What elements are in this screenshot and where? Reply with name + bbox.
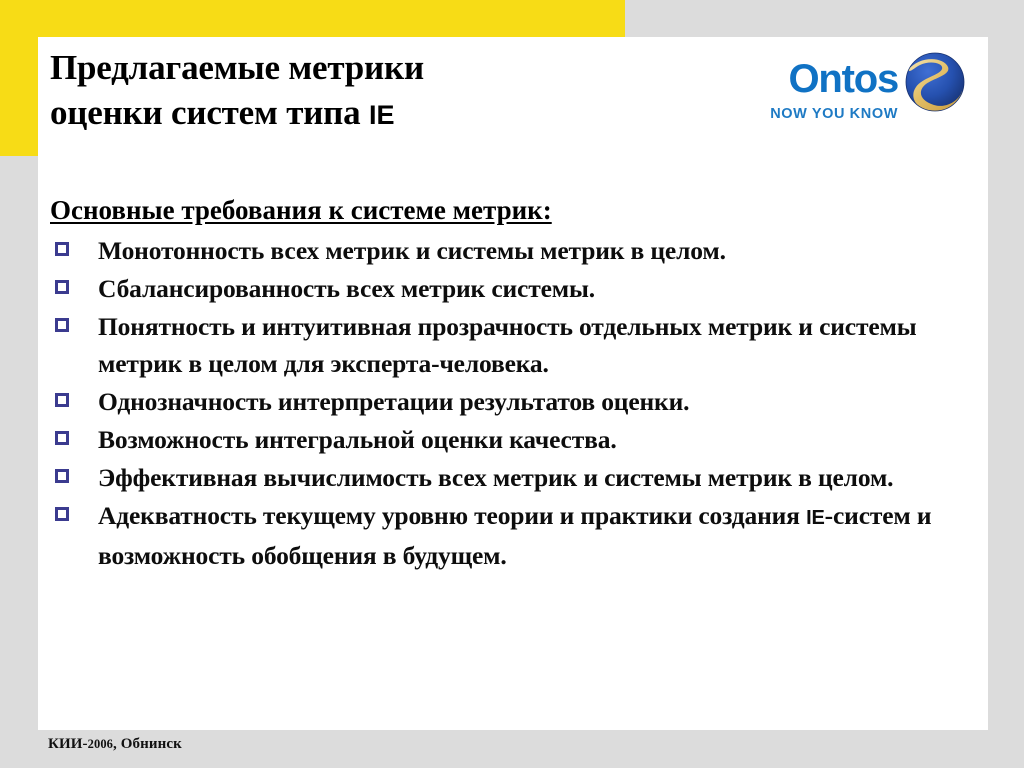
- list-item: Адекватность текущему уровню теории и пр…: [50, 497, 955, 574]
- ontos-sphere-icon: [904, 51, 966, 113]
- logo-tagline: NOW YOU KNOW: [746, 106, 898, 122]
- slide-sheet: Предлагаемые метрики оценки систем типа …: [38, 37, 988, 730]
- list-item-label: Однозначность интерпретации результатов …: [98, 387, 689, 416]
- page-title: Предлагаемые метрики оценки систем типа …: [50, 45, 700, 138]
- page-title-line-1: Предлагаемые метрики: [50, 48, 424, 87]
- requirements-list: Монотонность всех метрик и системы метри…: [50, 232, 955, 574]
- bullet-square-icon: [55, 280, 69, 294]
- list-item: Возможность интегральной оценки качества…: [50, 421, 955, 458]
- left-yellow-band: [0, 37, 38, 156]
- list-item-latin-ie: IE: [806, 507, 825, 529]
- bullet-square-icon: [55, 242, 69, 256]
- bullet-square-icon: [55, 507, 69, 521]
- page-title-latin-ie: IE: [369, 100, 395, 130]
- bullet-square-icon: [55, 318, 69, 332]
- list-item-label: Возможность интегральной оценки качества…: [98, 425, 617, 454]
- left-gray-band: [0, 190, 37, 730]
- slide-body: Основные требования к системе метрик: Мо…: [50, 192, 955, 575]
- top-yellow-band: [0, 0, 625, 37]
- logo-wordmark: Ontos: [746, 57, 898, 101]
- section-heading: Основные требования к системе метрик:: [50, 192, 552, 228]
- list-item: Понятность и интуитивная прозрачность от…: [50, 308, 955, 382]
- footer-city: , Обнинск: [113, 736, 182, 752]
- footer-year: 2006: [88, 737, 113, 751]
- bullet-square-icon: [55, 469, 69, 483]
- list-item-label: Эффективная вычислимость всех метрик и с…: [98, 463, 893, 492]
- page-title-line-2: оценки систем типа: [50, 93, 369, 132]
- slide-footer: КИИ-2006, Обнинск: [48, 736, 182, 753]
- list-item-label: Понятность и интуитивная прозрачность от…: [98, 312, 916, 378]
- bullet-square-icon: [55, 393, 69, 407]
- footer-conference: КИИ: [48, 736, 83, 752]
- list-item: Сбалансированность всех метрик системы.: [50, 270, 955, 307]
- ontos-logo: Ontos NOW YOU KNOW: [746, 51, 966, 139]
- slide-canvas: Предлагаемые метрики оценки систем типа …: [0, 0, 1024, 768]
- list-item-label: Адекватность текущему уровню теории и пр…: [98, 501, 806, 530]
- list-item: Монотонность всех метрик и системы метри…: [50, 232, 955, 269]
- list-item-label: Монотонность всех метрик и системы метри…: [98, 236, 726, 265]
- top-gray-band: [625, 0, 1024, 37]
- slide-header: Предлагаемые метрики оценки систем типа …: [38, 37, 988, 155]
- list-item-label: Сбалансированность всех метрик системы.: [98, 274, 595, 303]
- bullet-square-icon: [55, 431, 69, 445]
- list-item: Однозначность интерпретации результатов …: [50, 383, 955, 420]
- list-item: Эффективная вычислимость всех метрик и с…: [50, 459, 955, 496]
